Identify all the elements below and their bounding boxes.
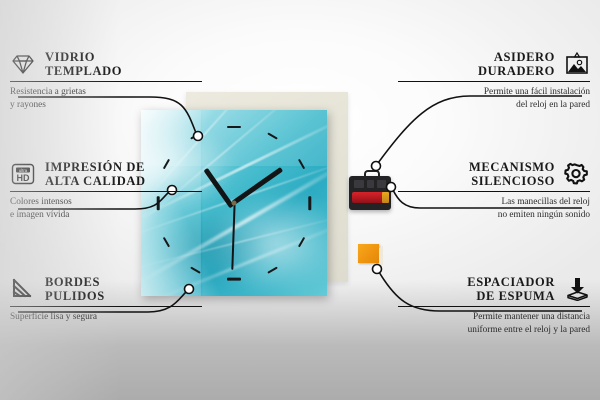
feature-mecanismo-silencioso: MECANISMO SILENCIOSO Las manecillas del … (398, 160, 590, 221)
clock-center-cap (232, 201, 237, 206)
feature-description: Permite una fácil instalación del reloj … (398, 86, 590, 111)
feature-bordes-pulidos: BORDES PULIDOS Superficie lisa y segura (10, 275, 202, 324)
feature-description: Las manecillas del reloj no emiten ningú… (398, 196, 590, 221)
feature-divider (398, 191, 590, 192)
battery-positive-terminal (382, 192, 389, 203)
foam-spacer-piece (358, 244, 379, 263)
feature-description: Resistencia a grietas y rayones (10, 86, 202, 111)
hanging-picture-icon (564, 52, 590, 76)
feature-title: ASIDERO DURADERO (478, 50, 555, 78)
feature-asidero-duradero: ASIDERO DURADERO Permite una fácil insta… (398, 50, 590, 111)
feature-vidrio-templado: VIDRIO TEMPLADO Resistencia a grietas y … (10, 50, 202, 111)
ultra-hd-icon: ultra HD (10, 162, 36, 186)
polished-edges-icon (10, 277, 36, 301)
feature-divider (10, 191, 202, 192)
feature-espaciador-de-espuma: ESPACIADOR DE ESPUMA Permite mantener un… (398, 275, 590, 336)
feature-title: VIDRIO TEMPLADO (45, 50, 122, 78)
feature-divider (398, 306, 590, 307)
clock-mechanism (349, 170, 391, 210)
clock-hour-marker (227, 278, 241, 281)
feature-title: IMPRESIÓN DE ALTA CALIDAD (45, 160, 146, 188)
feature-description: Permite mantener una distancia uniforme … (398, 311, 590, 336)
feature-impresion-alta-calidad: ultra HD IMPRESIÓN DE ALTA CALIDAD Color… (10, 160, 202, 221)
foam-spacer-icon (564, 277, 590, 301)
infographic-canvas: VIDRIO TEMPLADO Resistencia a grietas y … (0, 0, 600, 400)
mechanism-slot (367, 180, 374, 188)
clock-hour-marker (309, 196, 312, 210)
svg-text:HD: HD (17, 173, 30, 183)
feature-title: BORDES PULIDOS (45, 275, 105, 303)
mechanism-slot (354, 180, 364, 188)
feature-title: ESPACIADOR DE ESPUMA (467, 275, 555, 303)
feature-title: MECANISMO SILENCIOSO (469, 160, 555, 188)
feature-divider (398, 81, 590, 82)
feature-description: Superficie lisa y segura (10, 311, 202, 323)
feature-divider (10, 81, 202, 82)
feature-divider (10, 306, 202, 307)
feature-description: Colores intensos e imagen vívida (10, 196, 202, 221)
mechanism-slot (377, 180, 386, 188)
gear-icon (564, 162, 590, 186)
diamond-icon (10, 52, 36, 76)
clock-hour-marker (227, 126, 241, 129)
